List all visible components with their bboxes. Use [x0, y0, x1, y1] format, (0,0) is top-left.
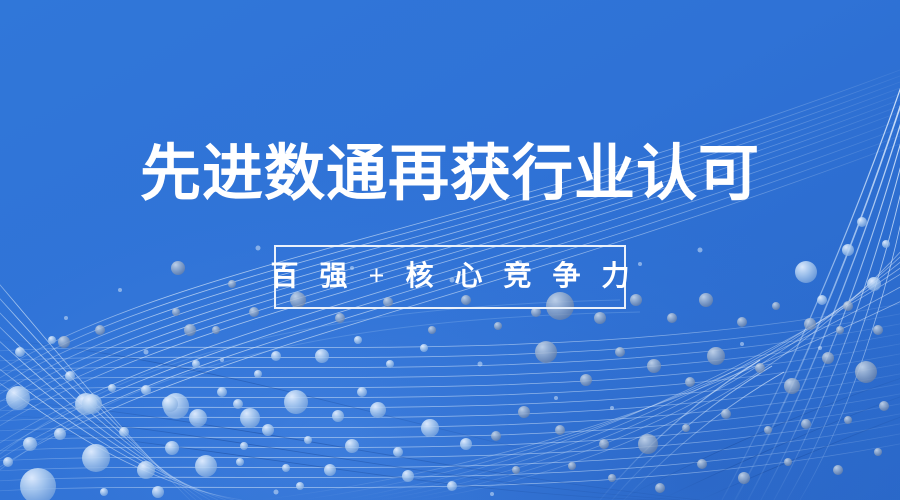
- subtitle-frame: 百 强 + 核 心 竞 争 力: [274, 245, 626, 309]
- banner-canvas: 先进数通再获行业认可 百 强 + 核 心 竞 争 力: [0, 0, 900, 500]
- banner-content: 先进数通再获行业认可 百 强 + 核 心 竞 争 力: [0, 0, 900, 500]
- page-title: 先进数通再获行业认可: [140, 144, 760, 205]
- subtitle-text: 百 强 + 核 心 竞 争 力: [264, 263, 637, 291]
